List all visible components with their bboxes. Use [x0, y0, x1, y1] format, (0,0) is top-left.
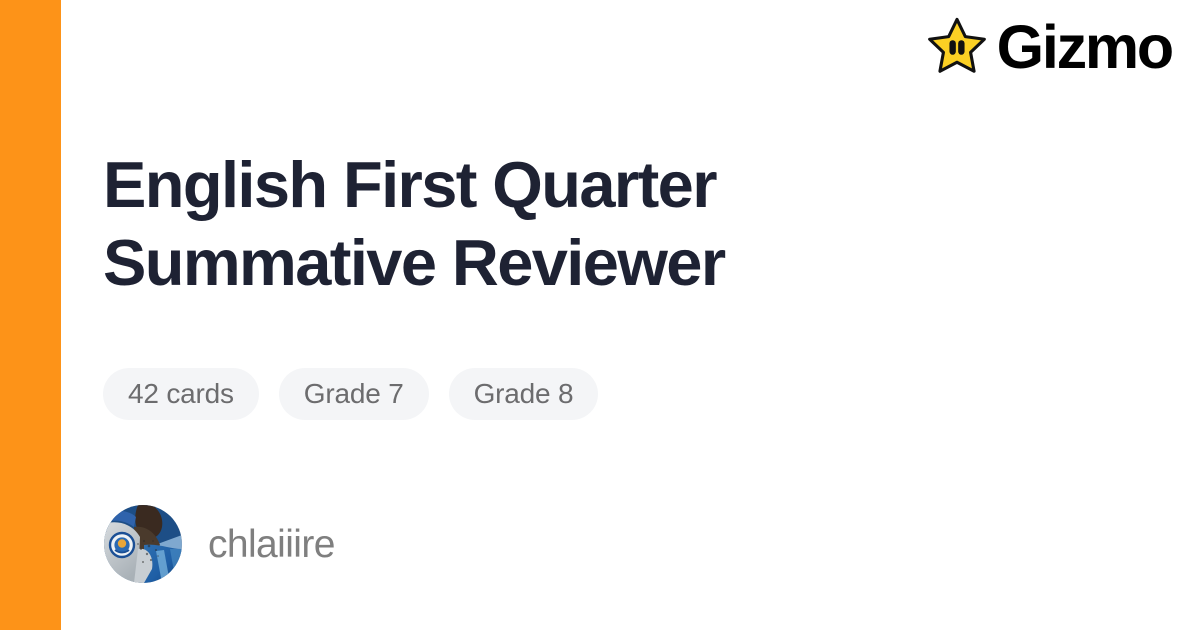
author-row[interactable]: chlaiiire	[104, 505, 335, 583]
tag-grade-7[interactable]: Grade 7	[279, 368, 429, 420]
left-accent-bar	[0, 0, 61, 630]
page-title: English First Quarter Summative Reviewer	[103, 146, 923, 302]
tag-card-count[interactable]: 42 cards	[103, 368, 259, 420]
tag-grade-8[interactable]: Grade 8	[449, 368, 599, 420]
author-username[interactable]: chlaiiire	[208, 525, 335, 564]
avatar[interactable]	[104, 505, 182, 583]
deck-summary: English First Quarter Summative Reviewer…	[103, 0, 1103, 630]
deck-tag-list: 42 cards Grade 7 Grade 8	[103, 368, 598, 420]
